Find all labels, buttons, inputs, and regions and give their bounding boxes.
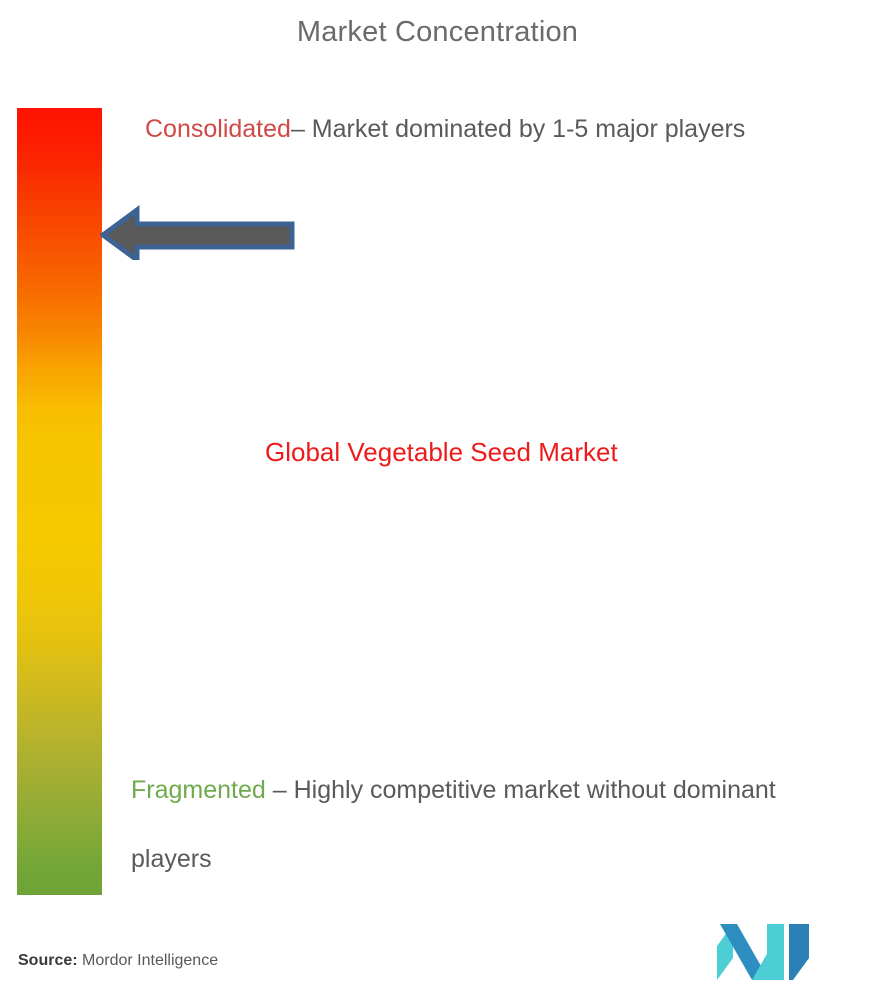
page-title: Market Concentration — [0, 16, 875, 49]
consolidated-text: – Market dominated by 1-5 major players — [291, 115, 745, 143]
market-name-label: Global Vegetable Seed Market — [265, 430, 685, 475]
concentration-gradient-bar — [17, 108, 102, 895]
mordor-intelligence-logo — [717, 924, 809, 980]
consolidated-description: Consolidated– Market dominated by 1-5 ma… — [145, 96, 805, 163]
fragmented-keyword: Fragmented — [131, 776, 266, 804]
market-position-arrow — [100, 204, 296, 260]
consolidated-keyword: Consolidated — [145, 115, 291, 143]
mi-logo-icon — [717, 924, 809, 980]
source-attribution: Source: Mordor Intelligence — [18, 952, 218, 970]
source-value: Mordor Intelligence — [82, 952, 218, 969]
source-label: Source: — [18, 952, 78, 969]
left-arrow-icon — [100, 204, 296, 260]
market-concentration-chart: Market Concentration Consolidated– Marke… — [0, 0, 875, 1000]
fragmented-description: Fragmented – Highly competitive market w… — [131, 756, 811, 894]
